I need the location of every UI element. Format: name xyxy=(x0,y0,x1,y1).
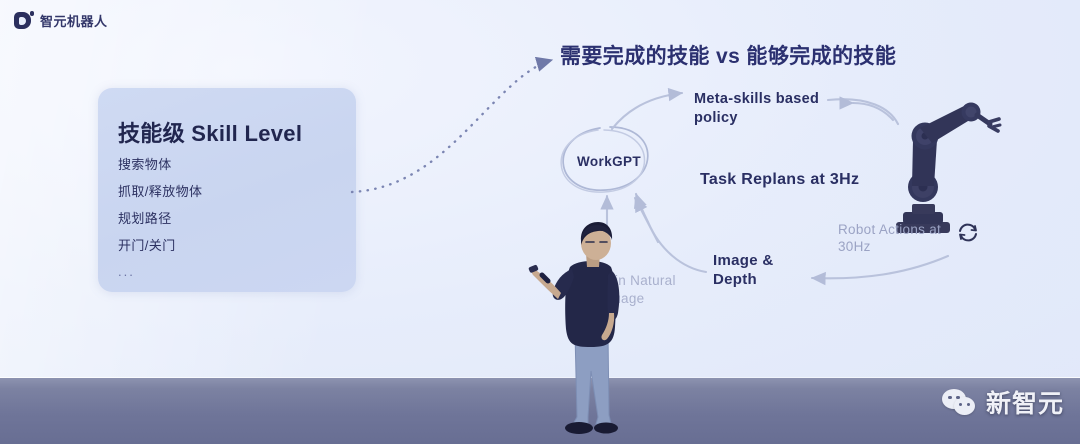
label-image-depth: Image & Depth xyxy=(713,251,803,289)
label-workgpt: WorkGPT xyxy=(577,153,641,170)
agibot-logo-icon xyxy=(14,12,33,29)
channel-watermark: 新智元 xyxy=(942,384,1064,420)
brand-name: 智元机器人 xyxy=(40,11,108,30)
robotic-arm-icon xyxy=(896,103,1000,234)
dotted-arrow-icon xyxy=(352,60,552,192)
presenter-person xyxy=(528,221,648,444)
wechat-icon xyxy=(942,389,978,416)
label-meta-skills: Meta-skills based policy xyxy=(694,90,824,127)
refresh-loop-icon xyxy=(960,225,976,241)
label-robot-actions: Robot Actions at 30Hz xyxy=(838,221,958,256)
screenshot-root: 智元机器人 技能级 Skill Level 搜索物体 抓取/释放物体 规划路径 … xyxy=(0,0,1080,444)
label-task-replans: Task Replans at 3Hz xyxy=(700,170,859,190)
curved-arrow-icon xyxy=(612,93,682,129)
watermark-text: 新智元 xyxy=(986,384,1064,420)
brand-logo: 智元机器人 xyxy=(14,11,108,30)
